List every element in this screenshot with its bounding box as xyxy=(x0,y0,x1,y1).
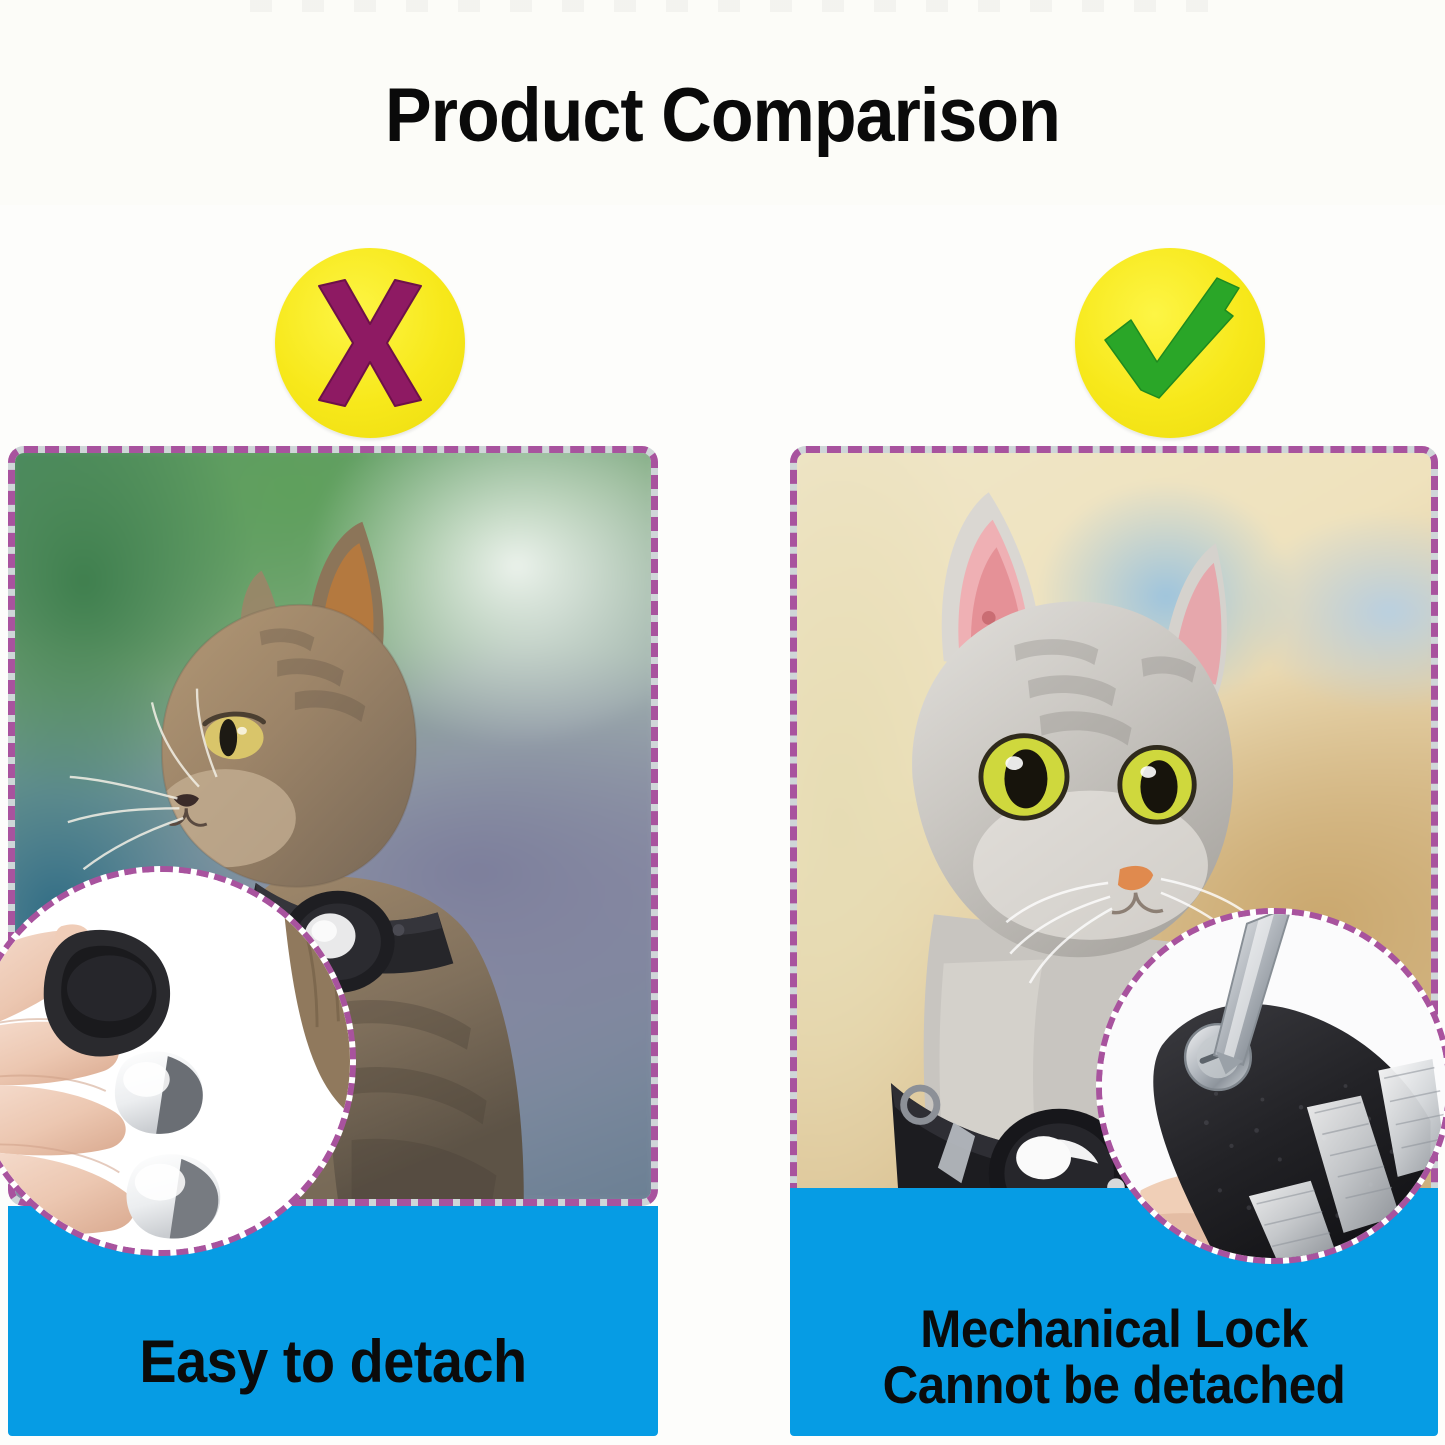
title-band: Product Comparison xyxy=(0,0,1445,205)
cat-eye-right xyxy=(1120,747,1194,822)
check-icon xyxy=(1075,248,1265,438)
comparison-panel-ours: Mechanical Lock Cannot be detached xyxy=(790,446,1438,1436)
cat-eye-left xyxy=(981,736,1067,818)
inset-others-detach xyxy=(0,866,356,1256)
caption-others: Easy to detach xyxy=(31,1327,636,1396)
inset-art-hand-holding-airtag-holder xyxy=(0,872,350,1250)
cross-icon xyxy=(275,248,465,438)
infographic-canvas: Product Comparison Others Ours xyxy=(0,0,1445,1445)
badge-circle-others xyxy=(275,248,465,438)
badge-circle-ours xyxy=(1075,248,1265,438)
inset-ours-lock xyxy=(1096,908,1445,1264)
inset-art-screwdriver-on-lock xyxy=(1102,914,1445,1258)
caption-ours-line-2: Cannot be detached xyxy=(813,1358,1416,1414)
caption-ours-line-1: Mechanical Lock xyxy=(813,1302,1416,1358)
caption-ours: Mechanical Lock Cannot be detached xyxy=(813,1302,1416,1414)
page-title: Product Comparison xyxy=(58,72,1387,159)
cropped-text-remnant xyxy=(250,0,1210,12)
comparison-panel-others: Easy to detach xyxy=(8,446,658,1436)
